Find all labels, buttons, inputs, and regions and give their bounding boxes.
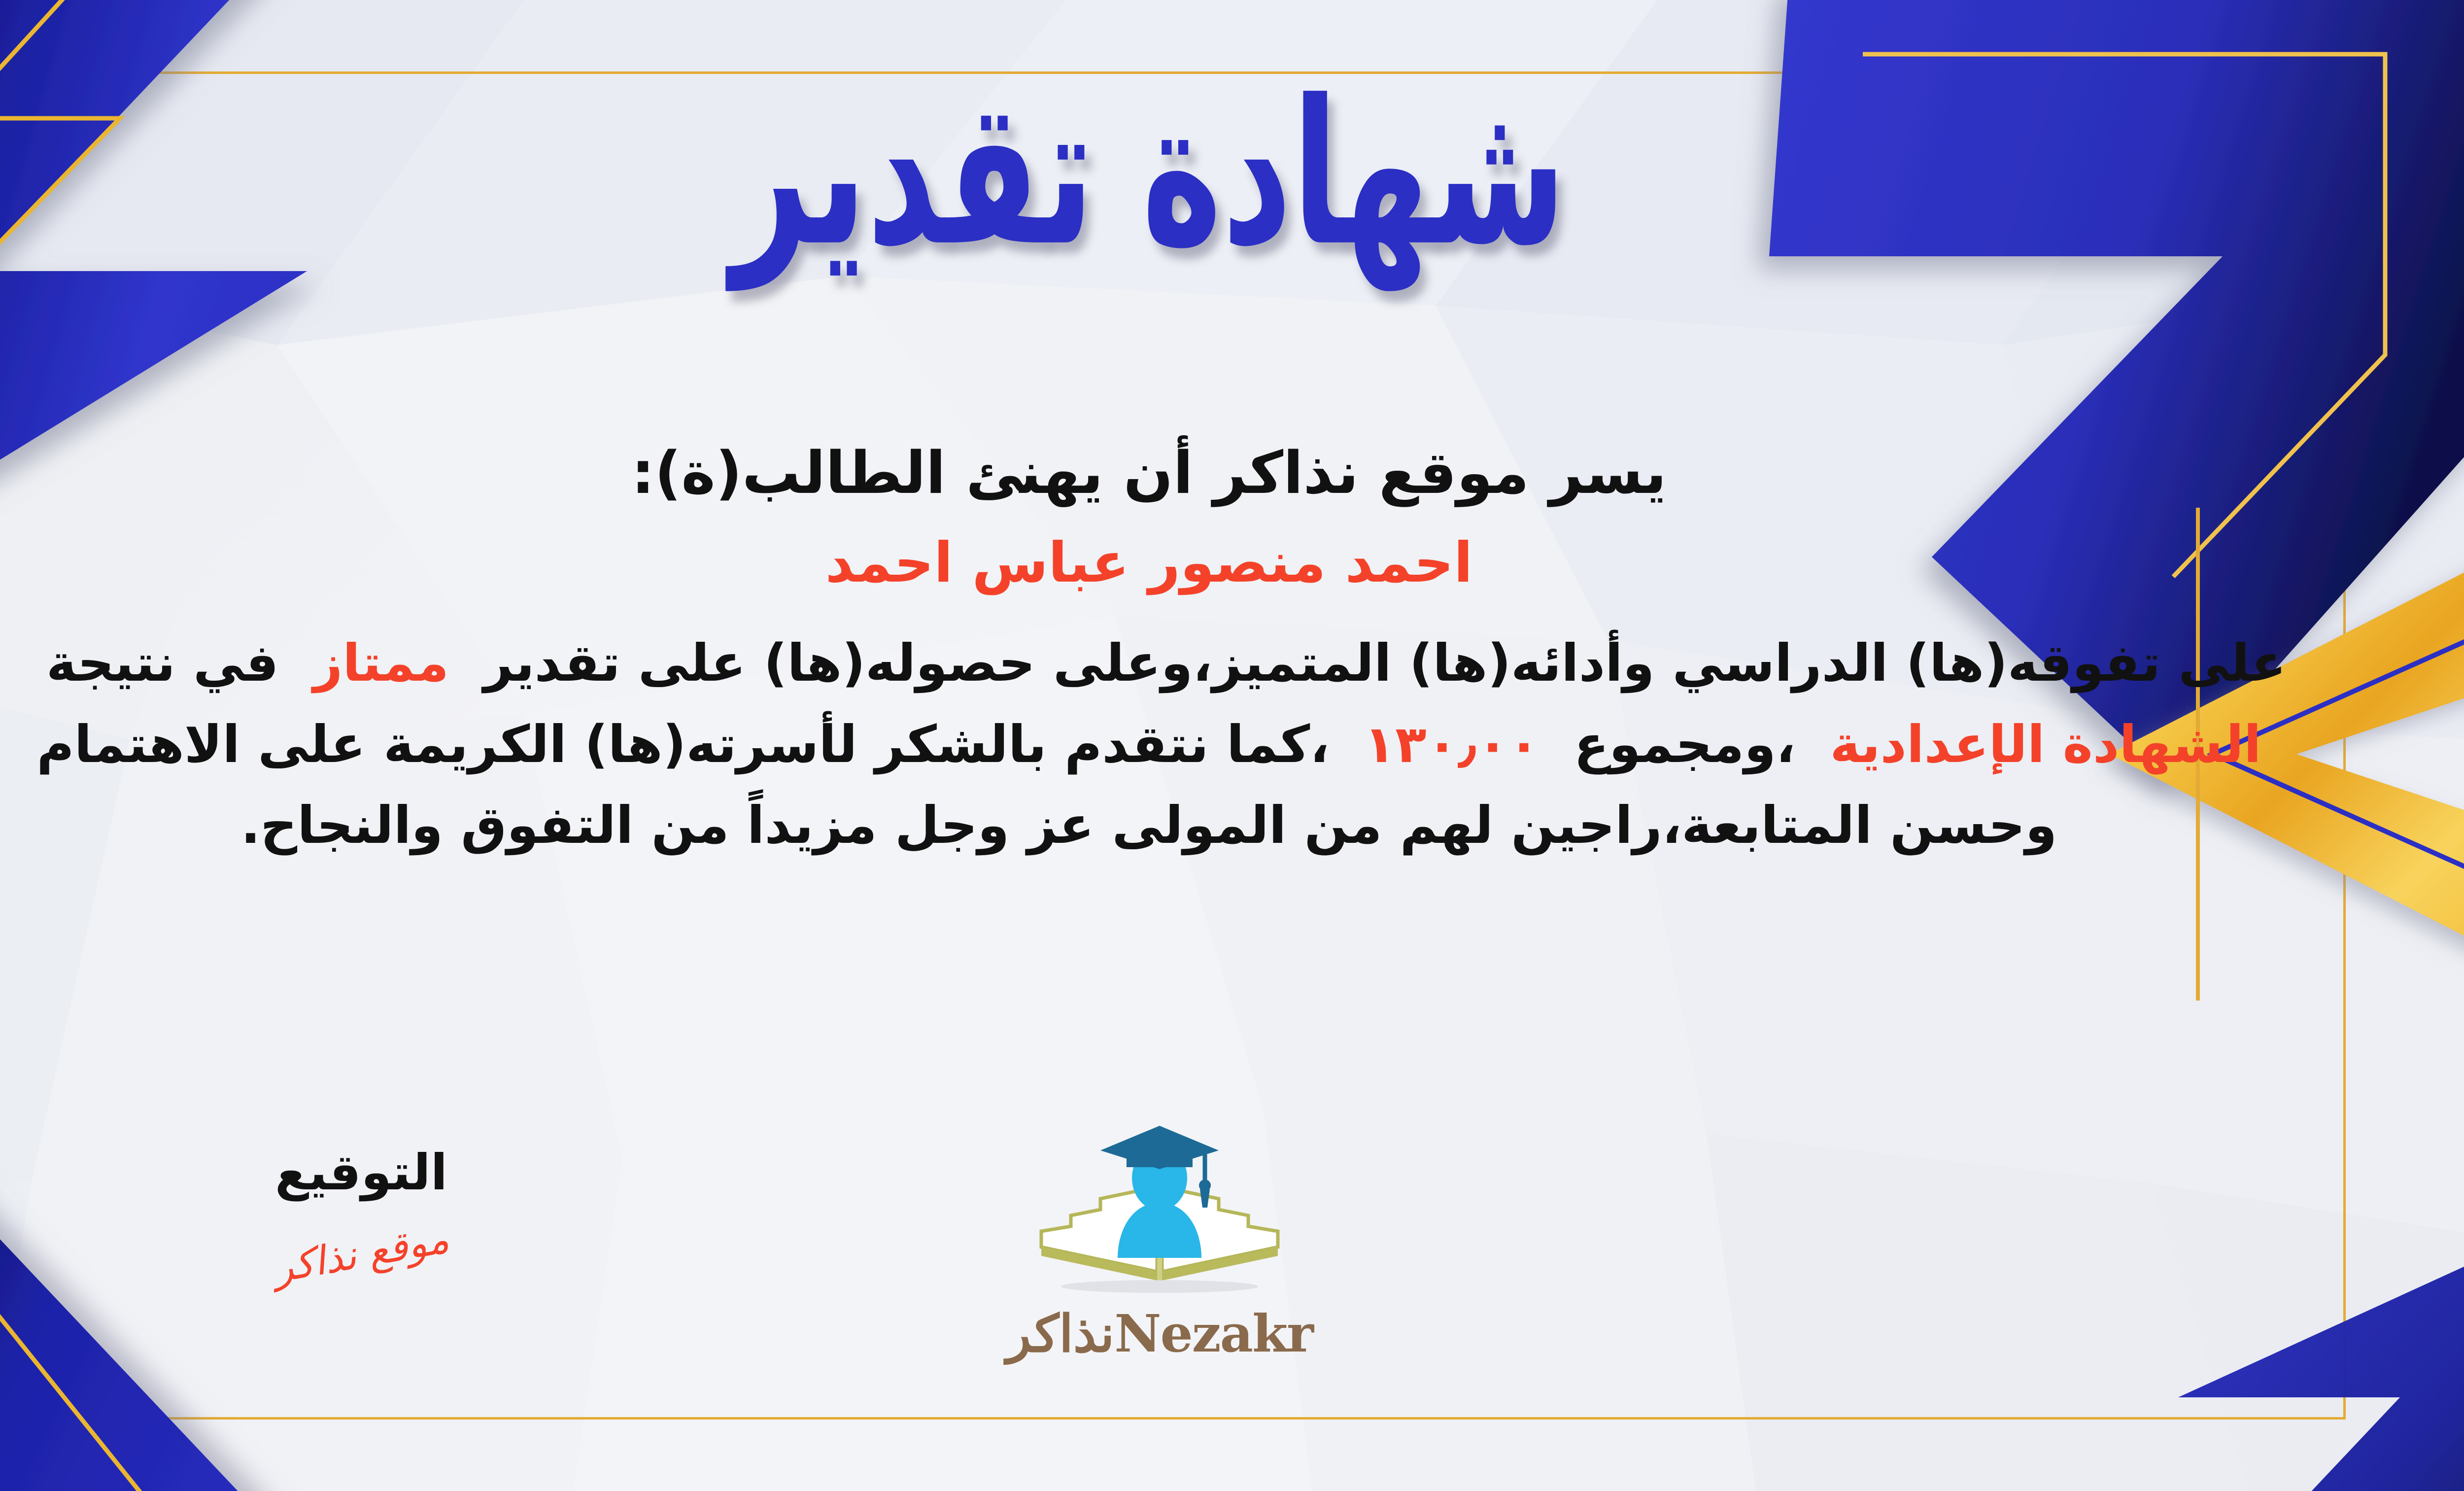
certificate-canvas: شهادة تقدير يسر موقع نذاكر أن يهنئ الطال…: [0, 0, 2464, 1491]
page-title: شهادة تقدير: [731, 64, 1567, 284]
salutation-line: يسر موقع نذاكر أن يهنئ الطالب(ة):: [0, 434, 2301, 512]
corner-decoration-bottom-right: [1932, 1092, 2464, 1491]
grade-value: ممتاز: [313, 633, 449, 693]
certificate-body: يسر موقع نذاكر أن يهنئ الطالب(ة): احمد م…: [0, 434, 2301, 866]
brand-wordmark: Nezakrنذاكر: [962, 1303, 1357, 1364]
student-name: احمد منصور عباس احمد: [0, 531, 2301, 595]
graduate-book-logo-icon: [1022, 1124, 1298, 1301]
brand-logo-block: Nezakrنذاكر: [962, 1124, 1357, 1364]
total-score-value: ١٣٠٫٠٠: [1364, 714, 1540, 774]
certificate-title-wrap: شهادة تقدير: [0, 64, 2464, 227]
citation-segment-2: في نتيجة: [46, 633, 279, 693]
citation-segment-1: على تفوقه(ها) الدراسي وأدائه(ها) المتميز…: [483, 633, 2286, 693]
citation-paragraph: على تفوقه(ها) الدراسي وأدائه(ها) المتميز…: [0, 623, 2301, 866]
signature-block: التوقيع موقع نذاكر: [208, 1144, 514, 1277]
signature-label: التوقيع: [208, 1144, 514, 1201]
citation-segment-3: ،ومجموع: [1574, 714, 1795, 774]
exam-name-value: الشهادة الإعدادية: [1830, 714, 2261, 774]
